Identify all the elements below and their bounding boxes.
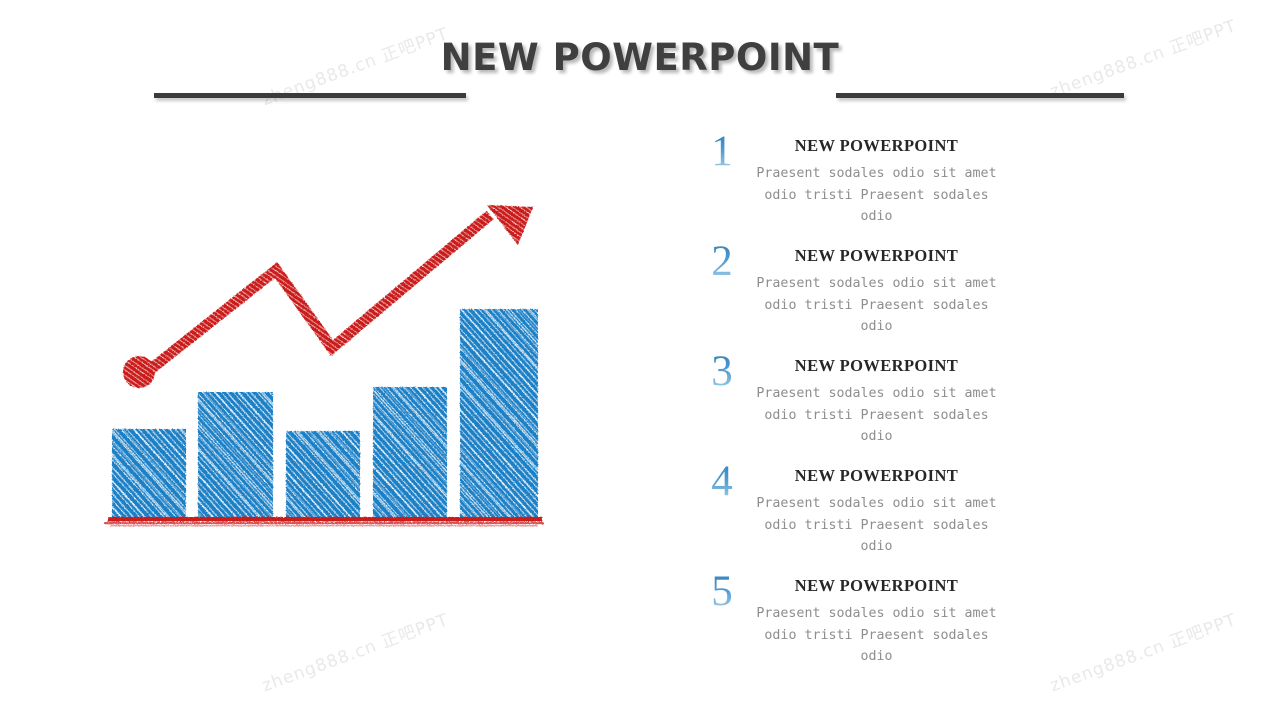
bar-3 — [286, 431, 360, 519]
list-item-description: Praesent sodales odio sit amet odio tris… — [754, 383, 999, 448]
list-item-description: Praesent sodales odio sit amet odio tris… — [754, 163, 999, 228]
title-rule-right — [836, 93, 1124, 98]
list-item-heading: NEW POWERPOINT — [754, 136, 999, 156]
bar-5 — [460, 309, 538, 519]
page-title: NEW POWERPOINT — [0, 36, 1280, 79]
list-item-heading: NEW POWERPOINT — [754, 356, 999, 376]
chart-svg — [90, 180, 570, 550]
list-item-description: Praesent sodales odio sit amet odio tris… — [754, 493, 999, 558]
list-item-heading: NEW POWERPOINT — [754, 466, 999, 486]
list-item-body: NEW POWERPOINT Praesent sodales odio sit… — [754, 136, 999, 228]
list-item[interactable]: 3 NEW POWERPOINT Praesent sodales odio s… — [688, 348, 1018, 458]
watermark: zheng888.cn 正吧PPT — [258, 605, 452, 696]
list-item-heading: NEW POWERPOINT — [754, 576, 999, 596]
list-item-number: 1 — [696, 128, 748, 176]
list-item-body: NEW POWERPOINT Praesent sodales odio sit… — [754, 576, 999, 668]
list-item-description: Praesent sodales odio sit amet odio tris… — [754, 603, 999, 668]
list-item[interactable]: 2 NEW POWERPOINT Praesent sodales odio s… — [688, 238, 1018, 348]
list-item[interactable]: 4 NEW POWERPOINT Praesent sodales odio s… — [688, 458, 1018, 568]
bar-4 — [373, 387, 447, 519]
sketch-bar-chart — [90, 180, 570, 550]
watermark: zheng888.cn 正吧PPT — [1046, 605, 1240, 696]
feature-list: 1 NEW POWERPOINT Praesent sodales odio s… — [688, 128, 1018, 678]
list-item-description: Praesent sodales odio sit amet odio tris… — [754, 273, 999, 338]
bar-2 — [198, 392, 273, 519]
list-item-body: NEW POWERPOINT Praesent sodales odio sit… — [754, 356, 999, 448]
list-item-number: 3 — [696, 348, 748, 396]
list-item-heading: NEW POWERPOINT — [754, 246, 999, 266]
title-rule-left — [154, 93, 466, 98]
bar-1 — [112, 429, 186, 519]
chart-baseline — [104, 517, 544, 526]
list-item-number: 5 — [696, 568, 748, 616]
list-item-number: 2 — [696, 238, 748, 286]
list-item-body: NEW POWERPOINT Praesent sodales odio sit… — [754, 246, 999, 338]
list-item[interactable]: 1 NEW POWERPOINT Praesent sodales odio s… — [688, 128, 1018, 238]
list-item-number: 4 — [696, 458, 748, 506]
list-item-body: NEW POWERPOINT Praesent sodales odio sit… — [754, 466, 999, 558]
list-item[interactable]: 5 NEW POWERPOINT Praesent sodales odio s… — [688, 568, 1018, 678]
